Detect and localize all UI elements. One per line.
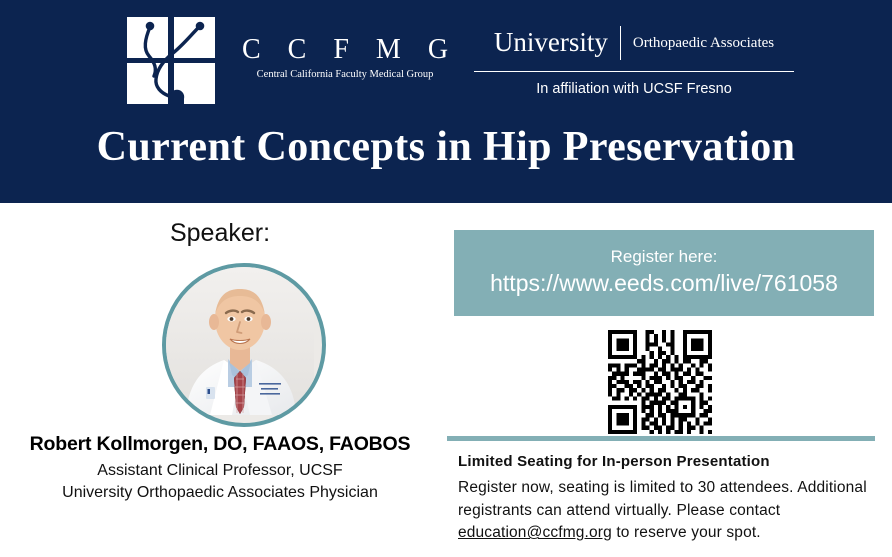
university-orthopaedic-associates-logo: University Orthopaedic Associates In aff…	[474, 26, 794, 97]
seating-heading: Limited Seating for In-person Presentati…	[458, 453, 878, 470]
seating-body-text: Register now, seating is limited to 30 a…	[458, 477, 886, 545]
speaker-title-line-2: University Orthopaedic Associates Physic…	[0, 484, 440, 502]
speaker-name: Robert Kollmorgen, DO, FAAOS, FAOBOS	[0, 433, 440, 456]
header-banner: C C F M G Central California Faculty Med…	[0, 0, 892, 203]
seating-body-part-1: Register now, seating is limited to 30 a…	[458, 479, 867, 519]
ccfmg-subtitle: Central California Faculty Medical Group	[232, 70, 458, 81]
ccfmg-stethoscope-quadrant-icon	[127, 17, 218, 104]
speaker-label: Speaker:	[0, 219, 440, 248]
seating-body-part-2: to reserve your spot.	[612, 524, 761, 541]
ccfmg-letters: C C F M G	[232, 36, 458, 64]
contact-email-link[interactable]: education@ccfmg.org	[458, 524, 612, 541]
registration-qr-code[interactable]	[608, 330, 712, 434]
uoa-affiliation-text: In affiliation with UCSF Fresno	[474, 81, 794, 97]
uoa-vertical-divider	[620, 26, 621, 60]
qr-code-image	[608, 330, 712, 434]
uoa-university-word: University	[494, 28, 608, 58]
registration-column: Register here: https://www.eeds.com/live…	[440, 203, 892, 557]
uoa-orthopaedic-associates-word: Orthopaedic Associates	[633, 35, 774, 52]
speaker-title-line-1: Assistant Clinical Professor, UCSF	[0, 462, 440, 480]
ccfmg-wordmark: C C F M G Central California Faculty Med…	[232, 17, 458, 81]
speaker-photo	[162, 263, 326, 427]
registration-url-link[interactable]: https://www.eeds.com/live/761058	[490, 268, 838, 299]
uoa-wordmark-row: University Orthopaedic Associates	[474, 26, 794, 60]
register-here-label: Register here:	[611, 247, 718, 267]
speaker-column: Speaker:	[0, 203, 440, 557]
logo-row: C C F M G Central California Faculty Med…	[0, 0, 892, 112]
page-title: Current Concepts in Hip Preservation	[0, 123, 892, 171]
uoa-horizontal-rule	[474, 71, 794, 72]
speaker-portrait-image	[166, 267, 314, 415]
seating-divider-rule	[447, 436, 875, 441]
register-callout-box[interactable]: Register here: https://www.eeds.com/live…	[454, 230, 874, 316]
ccfmg-logo: C C F M G Central California Faculty Med…	[127, 17, 458, 104]
